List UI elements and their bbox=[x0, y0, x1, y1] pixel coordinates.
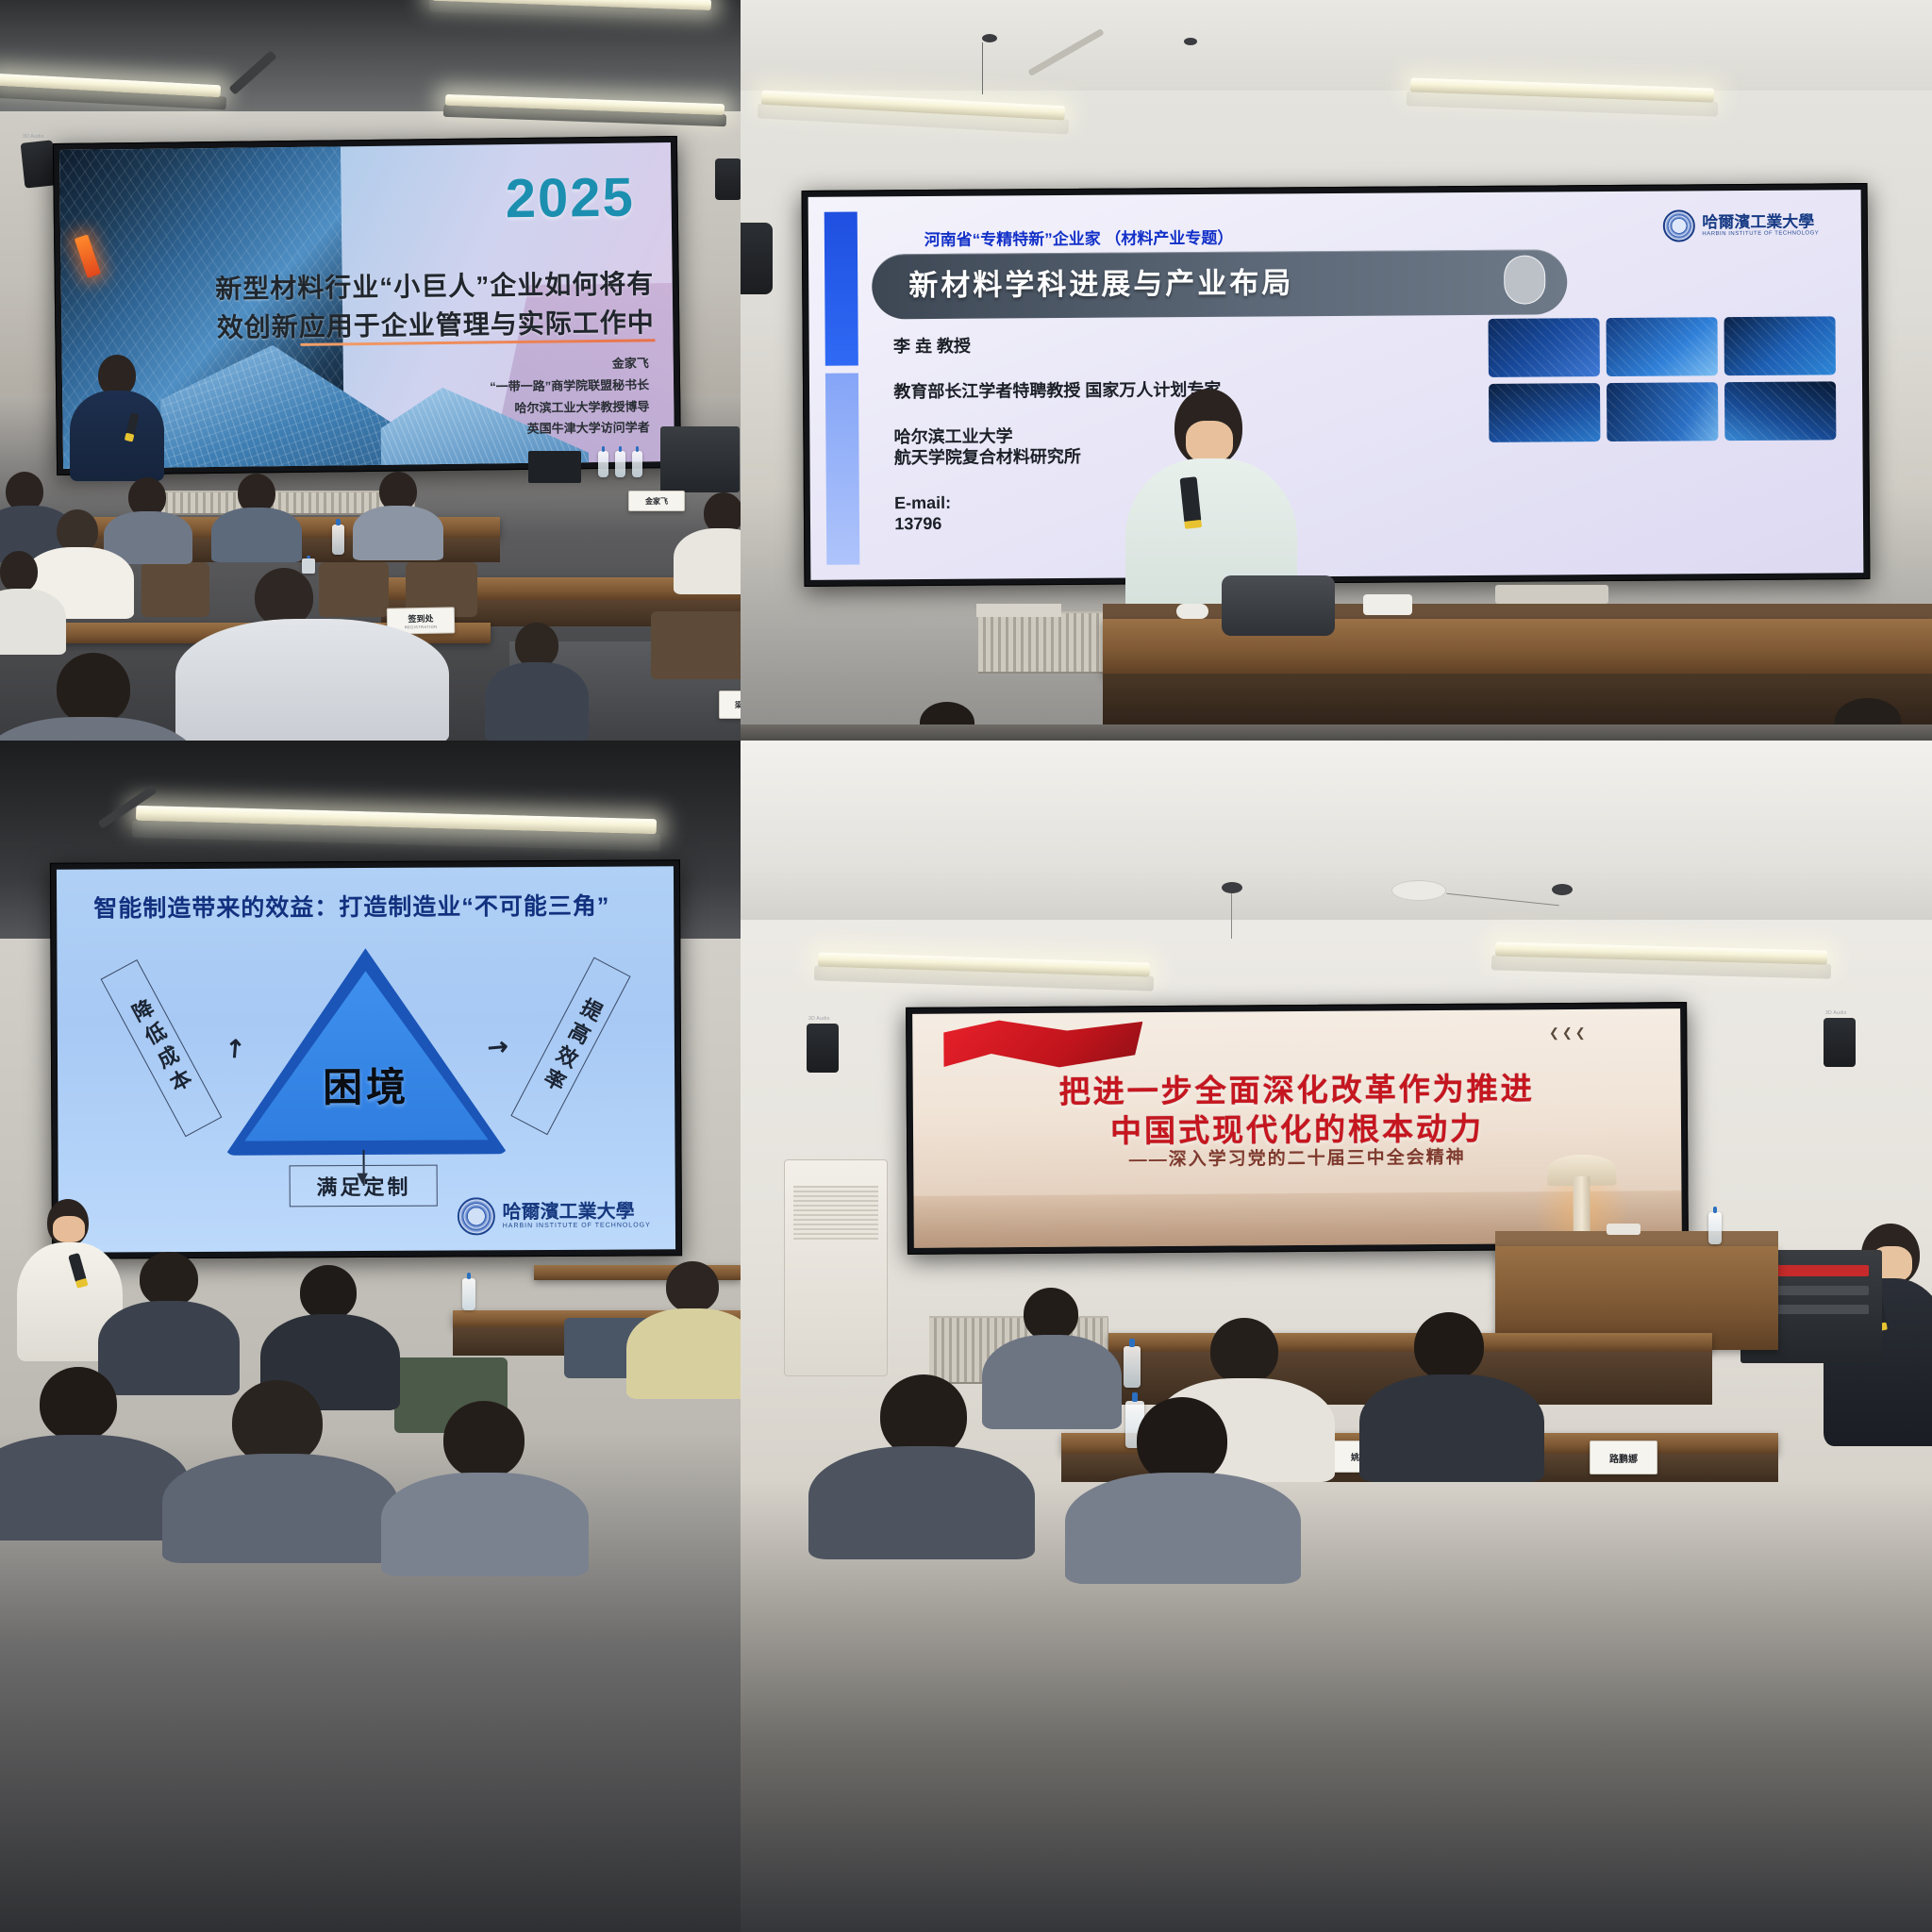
nameplate-text: 签到处 bbox=[408, 612, 433, 625]
hit-seal-icon bbox=[458, 1197, 495, 1235]
wall-speaker bbox=[21, 140, 58, 188]
attendee-head bbox=[515, 623, 558, 668]
attendee-head bbox=[443, 1401, 525, 1478]
presentation-display: 河南省“专精特新”企业家 （材料产业专题） 新材料学科进展与产业布局 哈爾濱工業… bbox=[802, 183, 1871, 587]
hit-logo-subtitle: HARBIN INSTITUTE OF TECHNOLOGY bbox=[503, 1222, 651, 1229]
panel-bottom-left: 智能制造带来的效益：打造制造业“不可能三角” 降低成本 提高效率 ↗ ↗ 困境 … bbox=[0, 741, 741, 1932]
slide2-body-line: 哈尔滨工业大学 bbox=[894, 426, 1222, 445]
attendee-shoulders bbox=[353, 506, 443, 560]
panel-top-right: 河南省“专精特新”企业家 （材料产业专题） 新材料学科进展与产业布局 哈爾濱工業… bbox=[741, 0, 1932, 741]
attendee-head bbox=[880, 1374, 967, 1457]
attendee-shoulders bbox=[808, 1446, 1035, 1559]
water-bottle bbox=[1708, 1212, 1722, 1244]
monitor bbox=[528, 451, 581, 483]
slide1-title-line1: 新型材料行业“小巨人”企业如何将有 bbox=[215, 264, 654, 308]
attendee-head bbox=[57, 653, 130, 724]
slide2-thumb bbox=[1489, 383, 1601, 442]
slide3-triangle-center: 困境 bbox=[225, 1055, 508, 1114]
slide-2: 河南省“专精特新”企业家 （材料产业专题） 新材料学科进展与产业布局 哈爾濱工業… bbox=[808, 190, 1864, 580]
slide3-triangle: 困境 bbox=[224, 947, 508, 1156]
chair-back bbox=[651, 611, 741, 679]
slide2-title-knob bbox=[1504, 255, 1545, 304]
desk-device bbox=[1607, 1224, 1641, 1235]
hit-logo-name: 哈爾濱工業大學 bbox=[503, 1202, 651, 1223]
office-chair bbox=[1222, 575, 1335, 636]
nameplate-speaker: 金家飞 bbox=[628, 491, 685, 511]
slide2-body-line: 教育部长江学者特聘教授 国家万人计划专家 bbox=[893, 381, 1221, 400]
wall-speaker bbox=[741, 223, 773, 294]
slide-3: 智能制造带来的效益：打造制造业“不可能三角” 降低成本 提高效率 ↗ ↗ 困境 … bbox=[57, 866, 675, 1252]
desk-tray bbox=[1495, 585, 1608, 604]
slide2-thumb bbox=[1488, 318, 1600, 377]
slide-4: ❮❮❮ 把进一步全面深化改革作为推进 中国式现代化的根本动力 ——深入学习党的二… bbox=[912, 1008, 1682, 1248]
slide2-title: 新材料学科进展与产业布局 bbox=[908, 258, 1293, 304]
air-conditioner bbox=[784, 1159, 888, 1376]
credit-line: “一带一路”商学院联盟秘书长 bbox=[490, 375, 649, 398]
nameplate-text: 路鹏娜 bbox=[1609, 1451, 1638, 1465]
water-bottle bbox=[1124, 1346, 1141, 1388]
presenter-face bbox=[1186, 421, 1233, 462]
attendee-head bbox=[40, 1367, 117, 1441]
attendee-head bbox=[232, 1380, 323, 1465]
nameplate-text: 金家飞 bbox=[645, 496, 668, 507]
ceiling-mount bbox=[1184, 38, 1197, 45]
paper-cup bbox=[302, 558, 315, 574]
attendee-shoulders bbox=[0, 589, 66, 655]
credit-line: 哈尔滨工业大学教授博导 bbox=[490, 396, 649, 420]
attendee-head bbox=[1137, 1397, 1227, 1484]
panel-top-left: 3D Audio 2025 新型材料行业“小巨人”企业如何将有 效创新应用于企业… bbox=[0, 0, 741, 741]
attendee-head bbox=[1210, 1318, 1278, 1384]
panel-bottom-right: 3D Audio 3D Audio ❮❮❮ 把进一步全面深化改革作为推进 中国式… bbox=[741, 741, 1932, 1932]
speaker-brand-label: 3D Audio bbox=[808, 1016, 830, 1022]
monument-shaft bbox=[1573, 1176, 1591, 1239]
attendee-head bbox=[666, 1261, 719, 1312]
podium bbox=[660, 426, 740, 492]
attendee-shoulders bbox=[626, 1308, 741, 1399]
nameplate-attendee: 路鹏娜 bbox=[1590, 1441, 1657, 1474]
credit-line: 金家飞 bbox=[490, 353, 649, 376]
attendee-shoulders bbox=[211, 508, 302, 562]
attendee-shoulders bbox=[485, 662, 589, 741]
attendee-shoulders bbox=[0, 717, 198, 741]
credit-line: 英国牛津大学访问学者 bbox=[491, 418, 650, 441]
water-bottle bbox=[632, 451, 642, 477]
water-bottle bbox=[615, 451, 625, 477]
nameplate-attendee: 梁 bbox=[719, 691, 741, 719]
ceiling-mount bbox=[1222, 882, 1242, 893]
attendee-shoulders bbox=[98, 1301, 240, 1395]
wall-speaker bbox=[1824, 1018, 1856, 1067]
ceiling-mount bbox=[1552, 884, 1573, 895]
hit-seal-icon bbox=[1663, 210, 1695, 242]
computer-mouse bbox=[1176, 604, 1208, 619]
desk-front-panel bbox=[1103, 674, 1932, 730]
water-bottle bbox=[598, 451, 608, 477]
desk-row bbox=[1108, 1333, 1712, 1352]
attendee-head bbox=[1024, 1288, 1078, 1341]
water-bottle bbox=[462, 1278, 475, 1310]
foreground-shadow bbox=[741, 724, 1932, 741]
attendee-head bbox=[300, 1265, 357, 1320]
wall-speaker bbox=[715, 158, 741, 200]
slide2-thumb bbox=[1606, 317, 1718, 376]
attendee-shoulders bbox=[162, 1454, 398, 1563]
slide2-thumb bbox=[1724, 316, 1837, 375]
slide2-accent-bar-2 bbox=[825, 373, 860, 564]
slide3-label-bottom: 满足定制 bbox=[290, 1165, 438, 1207]
desk-device bbox=[1363, 594, 1412, 615]
hit-logo-subtitle: HARBIN INSTITUTE OF TECHNOLOGY bbox=[1702, 231, 1819, 238]
ceiling bbox=[741, 741, 1932, 920]
presenter-face bbox=[53, 1216, 85, 1242]
slide2-thumb bbox=[1724, 381, 1837, 441]
hanging-cable bbox=[982, 42, 983, 94]
slide2-image-grid bbox=[1488, 316, 1836, 442]
slide3-label-right: 提高效率 bbox=[510, 958, 630, 1136]
attendee-head bbox=[1414, 1312, 1484, 1380]
attendee-shoulders bbox=[982, 1335, 1122, 1429]
desk-ledge bbox=[976, 604, 1061, 617]
slide2-accent-bar bbox=[824, 212, 858, 366]
attendee-head bbox=[140, 1252, 198, 1307]
slide3-title: 智能制造带来的效益：打造制造业“不可能三角” bbox=[93, 888, 609, 924]
photo-collage: 3D Audio 2025 新型材料行业“小巨人”企业如何将有 效创新应用于企业… bbox=[0, 0, 1932, 1932]
slide2-thumb bbox=[1607, 382, 1719, 441]
smoke-detector bbox=[1391, 880, 1446, 901]
hit-logo-name: 哈爾濱工業大學 bbox=[1702, 214, 1819, 232]
ceiling bbox=[741, 0, 1932, 91]
speaker-brand-label: 3D Audio bbox=[23, 134, 44, 140]
presenter-torso bbox=[70, 391, 164, 481]
attendee-shoulders bbox=[674, 528, 741, 594]
water-bottle bbox=[332, 525, 344, 555]
attendee-shoulders bbox=[0, 1435, 189, 1541]
speaker-brand-label: 3D Audio bbox=[1825, 1010, 1847, 1016]
slide1-credits: 金家飞 “一带一路”商学院联盟秘书长 哈尔滨工业大学教授博导 英国牛津大学访问学… bbox=[490, 353, 650, 441]
attendee-shoulders bbox=[1065, 1473, 1301, 1584]
slide1-year: 2025 bbox=[505, 165, 635, 230]
ceiling-mount bbox=[982, 34, 997, 42]
hanging-cable bbox=[1231, 893, 1232, 939]
presentation-display: ❮❮❮ 把进一步全面深化改革作为推进 中国式现代化的根本动力 ——深入学习党的二… bbox=[906, 1002, 1689, 1255]
chair-back bbox=[142, 562, 209, 617]
slide3-label-left: 降低成本 bbox=[101, 959, 223, 1137]
nameplate-subtext: REGISTRATION bbox=[405, 625, 438, 630]
projection-screen: 智能制造带来的效益：打造制造业“不可能三角” 降低成本 提高效率 ↗ ↗ 困境 … bbox=[50, 859, 682, 1258]
hit-logo: 哈爾濱工業大學 HARBIN INSTITUTE OF TECHNOLOGY bbox=[458, 1196, 651, 1235]
slide4-birds-icon: ❮❮❮ bbox=[1549, 1025, 1589, 1041]
slide2-body-line: 李 垚 教授 bbox=[893, 336, 1221, 355]
attendee-shoulders bbox=[175, 619, 449, 741]
wall-speaker bbox=[807, 1024, 839, 1073]
attendee-head bbox=[0, 551, 38, 592]
slide2-kicker: 河南省“专精特新”企业家 （材料产业专题） bbox=[924, 225, 1234, 250]
hit-logo: 哈爾濱工業大學 HARBIN INSTITUTE OF TECHNOLOGY bbox=[1663, 209, 1819, 242]
attendee-shoulders bbox=[381, 1473, 589, 1576]
chair-back bbox=[319, 562, 389, 617]
attendee-head bbox=[255, 568, 313, 626]
attendee-shoulders bbox=[1359, 1374, 1544, 1482]
